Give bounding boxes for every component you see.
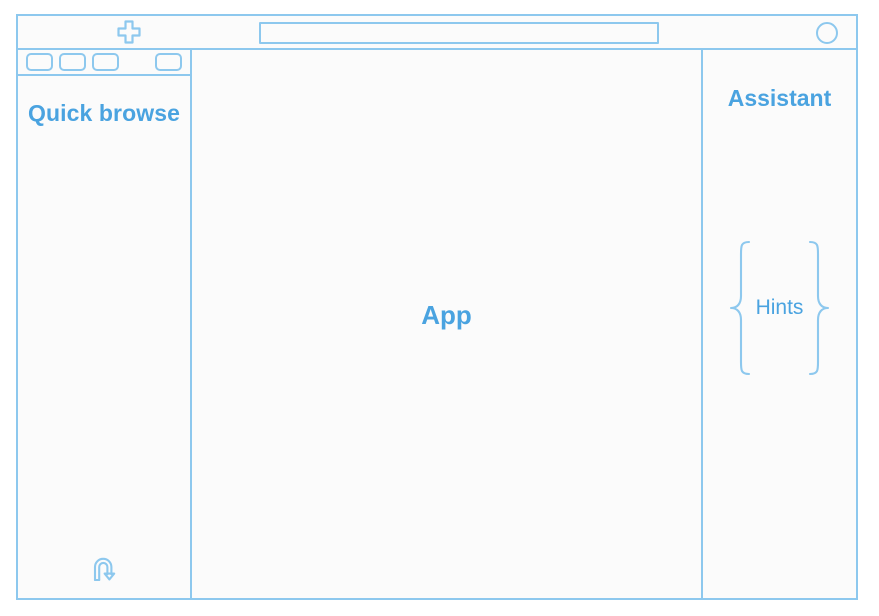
address-bar-input[interactable] [259, 22, 659, 44]
u-turn-arrow-icon [87, 552, 121, 586]
app-content-area[interactable]: App [192, 50, 703, 598]
app-label: App [421, 300, 472, 331]
assistant-panel: Assistant Hints [703, 50, 856, 598]
plus-icon [116, 19, 142, 45]
sidebar-toolbar-button-4[interactable] [155, 53, 182, 71]
sidebar-toolbar [18, 50, 190, 76]
new-tab-button[interactable] [98, 16, 160, 48]
u-turn-arrow-button[interactable] [18, 552, 190, 586]
sidebar-toolbar-button-1[interactable] [26, 53, 53, 71]
hints-block: Hints [703, 238, 856, 378]
circle-avatar-icon[interactable] [816, 22, 838, 44]
quick-browse-title: Quick browse [18, 98, 190, 129]
right-curly-brace-icon [805, 240, 831, 376]
sidebar-toolbar-button-3[interactable] [92, 53, 119, 71]
hints-label: Hints [756, 296, 804, 320]
assistant-title: Assistant [703, 85, 856, 112]
sidebar-content: Quick browse [18, 76, 190, 598]
quick-browse-sidebar: Quick browse [18, 50, 192, 598]
left-curly-brace-icon [728, 240, 754, 376]
browser-chrome-bar [18, 16, 856, 50]
sidebar-toolbar-button-2[interactable] [59, 53, 86, 71]
browser-window-frame: Quick browse App Assis [16, 14, 858, 600]
window-body: Quick browse App Assis [18, 50, 856, 598]
